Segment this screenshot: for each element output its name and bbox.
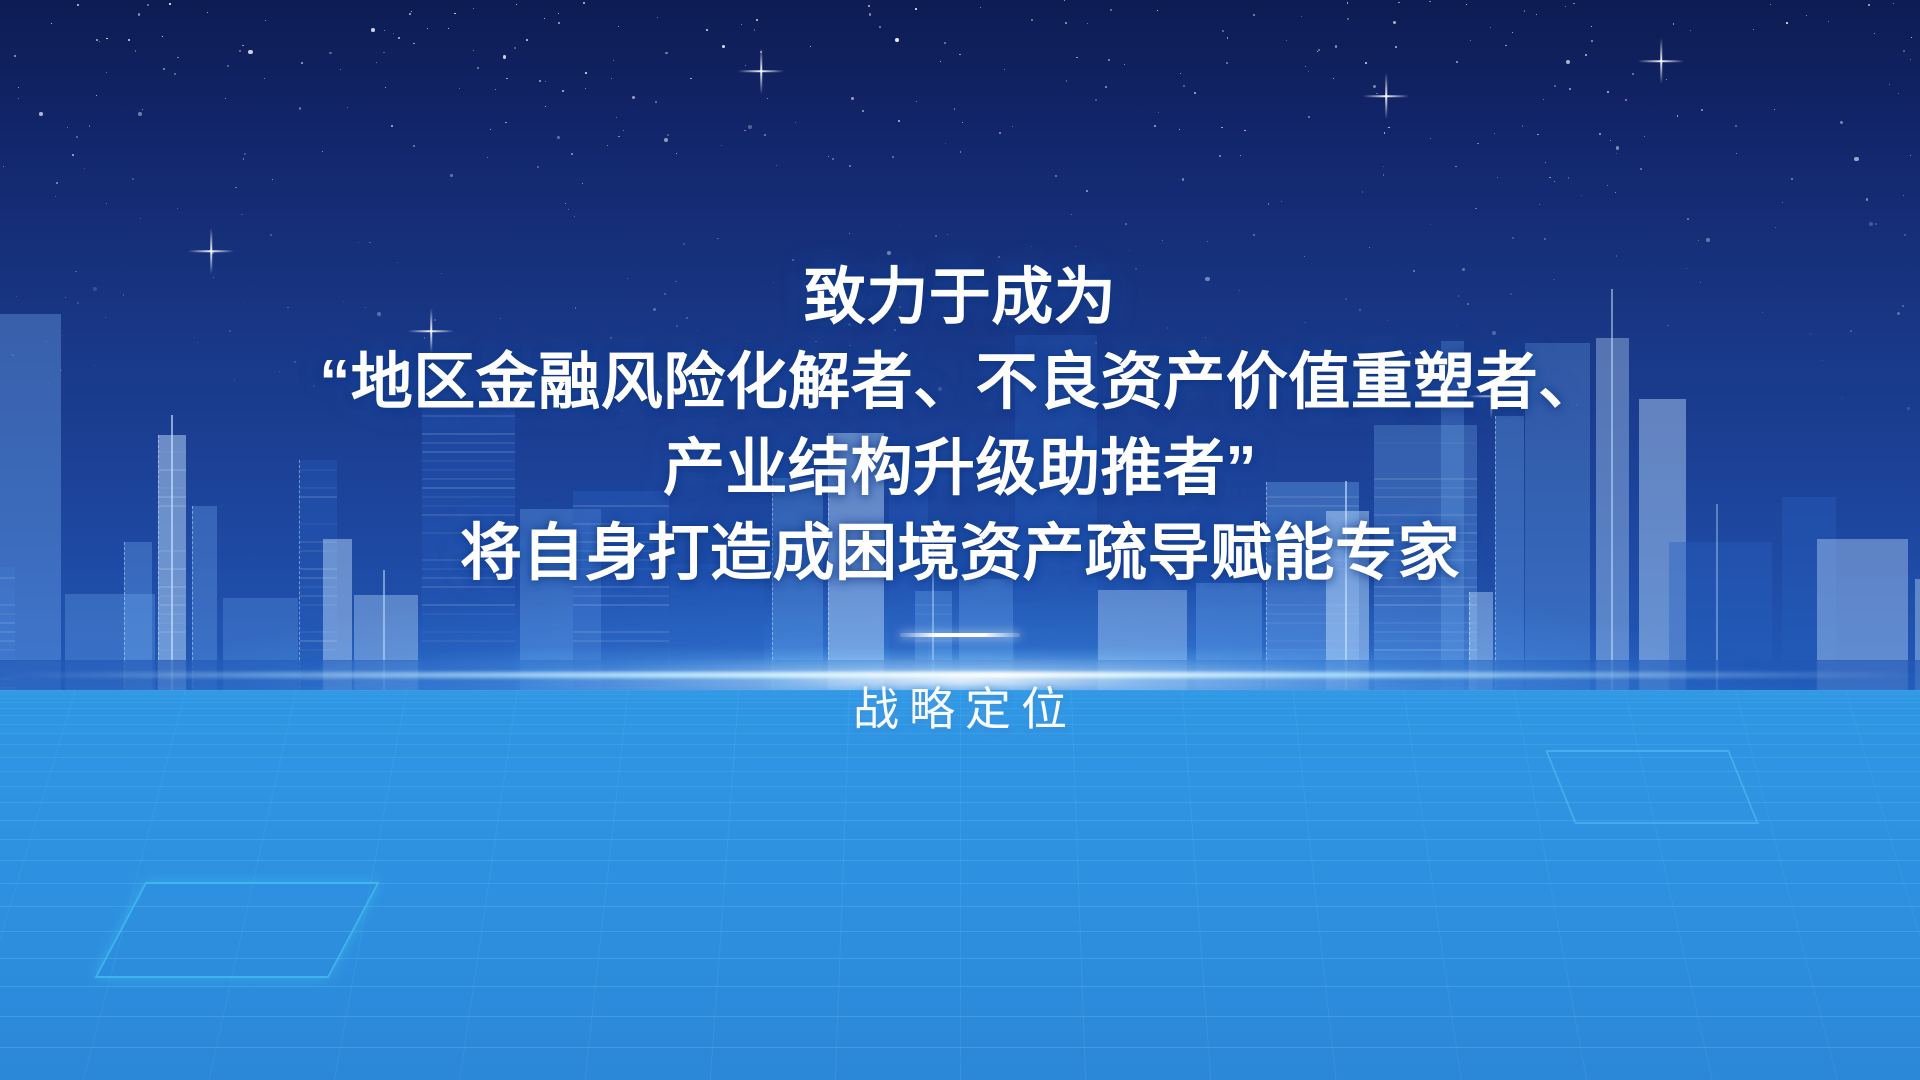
slide-subtitle: 战略定位 — [843, 673, 1077, 739]
headline-line-3: 产业结构升级助推者” — [663, 429, 1257, 508]
headline-line-4: 将自身打造成困境资产疏导赋能专家 — [460, 514, 1460, 593]
slide-canvas: 致力于成为 “地区金融风险化解者、不良资产价值重塑者、 产业结构升级助推者” 将… — [0, 0, 1920, 1080]
headline-line-2: “地区金融风险化解者、不良资产价值重塑者、 — [319, 343, 1601, 422]
headline-line-1: 致力于成为 — [804, 258, 1117, 337]
title-divider-rule — [900, 633, 1020, 637]
slide-content: 致力于成为 “地区金融风险化解者、不良资产价值重塑者、 产业结构升级助推者” 将… — [0, 0, 1920, 1080]
